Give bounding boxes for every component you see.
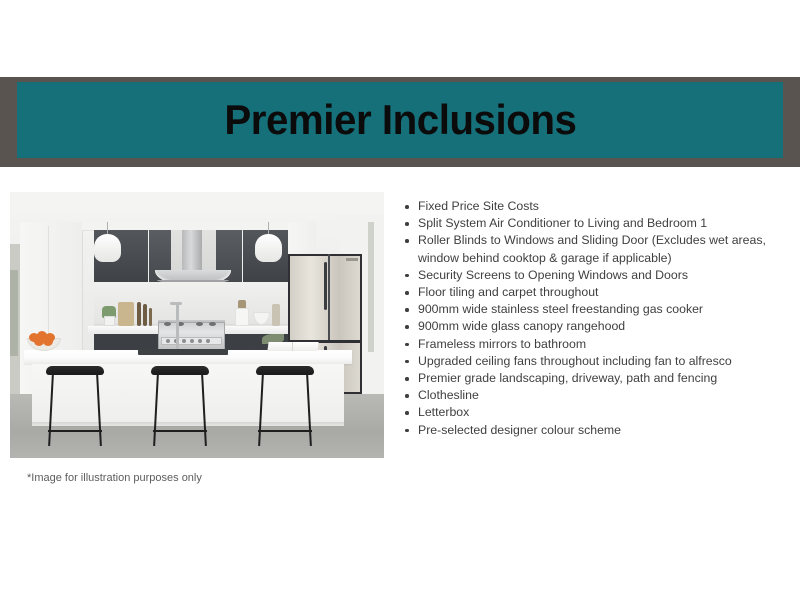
orange-5 xyxy=(43,337,53,346)
oven-knob-3 xyxy=(182,339,186,343)
right-wall-edge xyxy=(368,222,374,352)
book-spine xyxy=(292,342,293,351)
kitchen-photo xyxy=(10,192,384,458)
inclusions-list: Fixed Price Site Costs Split System Air … xyxy=(402,198,784,439)
kitchen-tap xyxy=(176,304,179,352)
wooden-utensil-3 xyxy=(149,308,152,326)
pendant-light-2 xyxy=(255,234,282,262)
ceiling xyxy=(10,192,384,214)
fridge-badge xyxy=(346,258,358,261)
chopping-board xyxy=(118,302,134,326)
burner-4 xyxy=(209,322,216,326)
island-sink xyxy=(138,349,228,355)
pendant-light-1 xyxy=(94,234,121,262)
open-book xyxy=(267,342,318,351)
list-item: Roller Blinds to Windows and Sliding Doo… xyxy=(402,232,784,266)
fridge-door-seam xyxy=(328,254,330,342)
list-item: Split System Air Conditioner to Living a… xyxy=(402,215,784,232)
canister xyxy=(235,308,249,326)
jug xyxy=(272,304,280,326)
kitchen-tap-spout xyxy=(170,302,182,305)
base-cabinet-left xyxy=(94,334,158,350)
list-item: Upgraded ceiling fans throughout includi… xyxy=(402,353,784,370)
bar-stool-1-footrail xyxy=(48,430,102,432)
photo-caption: *Image for illustration purposes only xyxy=(27,472,202,484)
list-item: Security Screens to Opening Windows and … xyxy=(402,267,784,284)
list-item: 900mm wide stainless steel freestanding … xyxy=(402,301,784,318)
oven-knob-6 xyxy=(206,339,210,343)
list-item: Pre-selected designer colour scheme xyxy=(402,422,784,439)
header-banner-inner: Premier Inclusions xyxy=(17,82,783,158)
list-item: Frameless mirrors to bathroom xyxy=(402,336,784,353)
header-banner: Premier Inclusions xyxy=(0,77,800,167)
burner-1 xyxy=(164,322,171,326)
list-item: Fixed Price Site Costs xyxy=(402,198,784,215)
plant-pot xyxy=(104,316,115,326)
list-item: Floor tiling and carpet throughout xyxy=(402,284,784,301)
wooden-utensil-1 xyxy=(137,302,141,326)
list-item: Letterbox xyxy=(402,404,784,421)
burner-3 xyxy=(196,322,203,326)
oven-knob-4 xyxy=(190,339,194,343)
list-item: 900mm wide glass canopy rangehood xyxy=(402,318,784,335)
list-item: Premier grade landscaping, driveway, pat… xyxy=(402,370,784,387)
bar-stool-2-footrail xyxy=(153,430,207,432)
island-shadow xyxy=(32,422,344,428)
wooden-utensil-2 xyxy=(143,304,147,326)
oven-knob-5 xyxy=(198,339,202,343)
oven-knob-1 xyxy=(166,339,170,343)
bar-stool-3-footrail xyxy=(258,430,312,432)
fridge-handle-upper xyxy=(324,262,327,310)
page-title: Premier Inclusions xyxy=(224,99,576,141)
list-item: Clothesline xyxy=(402,387,784,404)
left-window-greenery xyxy=(10,270,18,356)
